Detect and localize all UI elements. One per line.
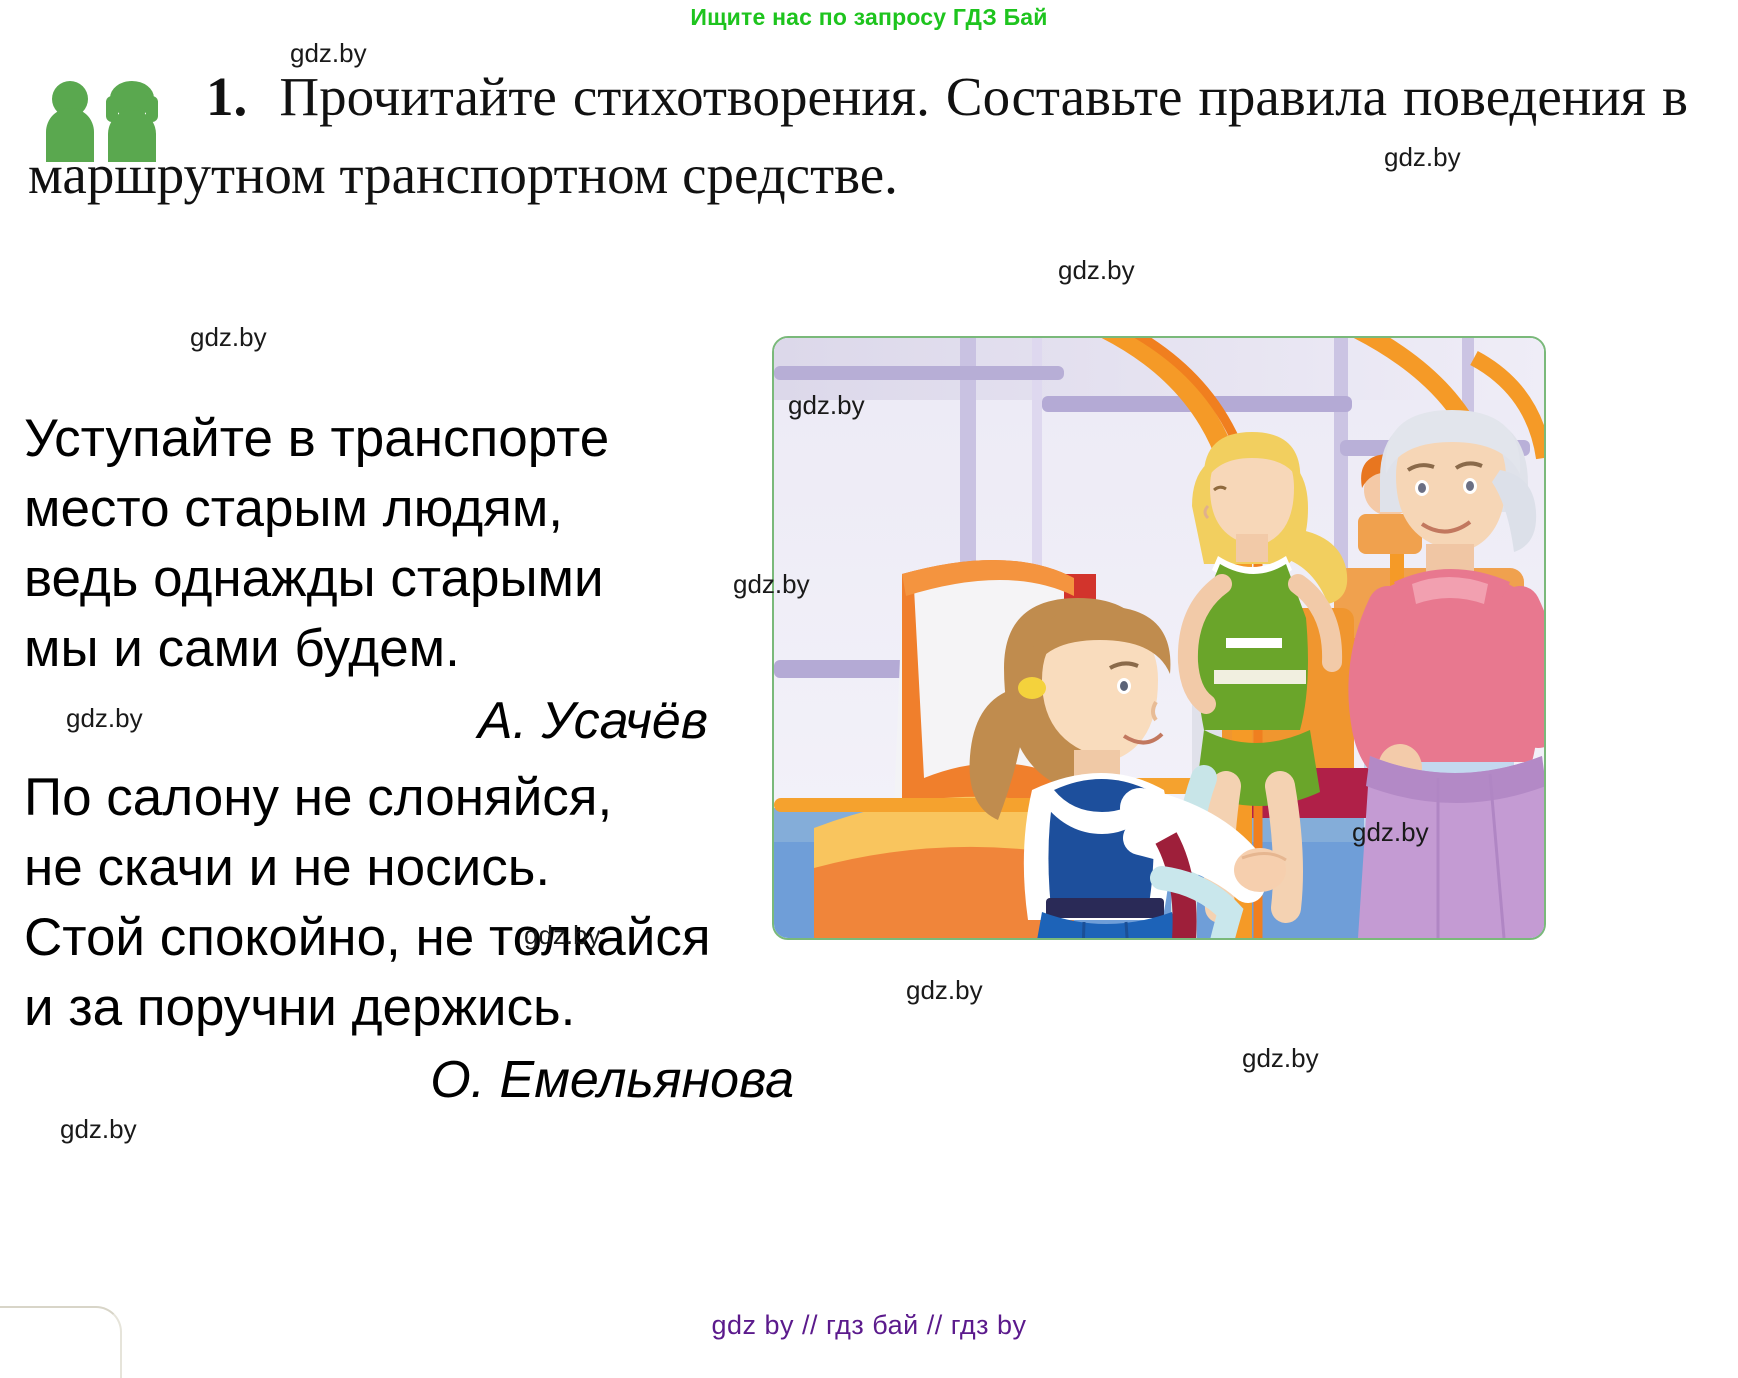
poem-line: и за поручни держись. bbox=[24, 973, 804, 1043]
watermark: gdz.by bbox=[60, 1114, 137, 1145]
page-content: 1. Прочитайте стихотворения. Составьте п… bbox=[0, 34, 1738, 1299]
watermark: gdz.by bbox=[1242, 1043, 1319, 1074]
poems-column: Уступайте в транспорте место старым людя… bbox=[24, 404, 804, 1118]
poem-line: место старым людям, bbox=[24, 474, 804, 544]
site-promo-banner: Ищите нас по запросу ГДЗ Бай bbox=[0, 0, 1738, 34]
poem-line: мы и сами будем. bbox=[24, 614, 804, 684]
poem-author: О. Емельянова bbox=[24, 1043, 804, 1118]
site-footer: gdz by // гдз бай // гдз by bbox=[0, 1299, 1738, 1351]
site-footer-text: gdz by // гдз бай // гдз by bbox=[711, 1310, 1026, 1341]
poem-line: Стой спокойно, не толкайся bbox=[24, 903, 804, 973]
watermark: gdz.by bbox=[190, 322, 267, 353]
poem-line: не скачи и не носись. bbox=[24, 833, 804, 903]
site-promo-banner-text: Ищите нас по запросу ГДЗ Бай bbox=[690, 4, 1047, 31]
transport-illustration bbox=[772, 336, 1546, 940]
task-statement-text: Прочитайте стихотворения. Составьте прав… bbox=[28, 66, 1688, 205]
task-statement: 1. Прочитайте стихотворения. Составьте п… bbox=[28, 58, 1688, 214]
task-block: 1. Прочитайте стихотворения. Составьте п… bbox=[28, 58, 1688, 214]
two-people-icon bbox=[28, 80, 178, 162]
poem-line: Уступайте в транспорте bbox=[24, 404, 804, 474]
poem-line: ведь однажды старыми bbox=[24, 544, 804, 614]
watermark: gdz.by bbox=[1058, 255, 1135, 286]
watermark: gdz.by bbox=[906, 975, 983, 1006]
poem-emelyanova: По салону не слоняйся, не скачи и не нос… bbox=[24, 763, 804, 1118]
poem-line: По салону не слоняйся, bbox=[24, 763, 804, 833]
poem-author: А. Усачёв bbox=[24, 684, 804, 759]
task-number: 1. bbox=[206, 66, 247, 127]
poem-usachev: Уступайте в транспорте место старым людя… bbox=[24, 404, 804, 759]
